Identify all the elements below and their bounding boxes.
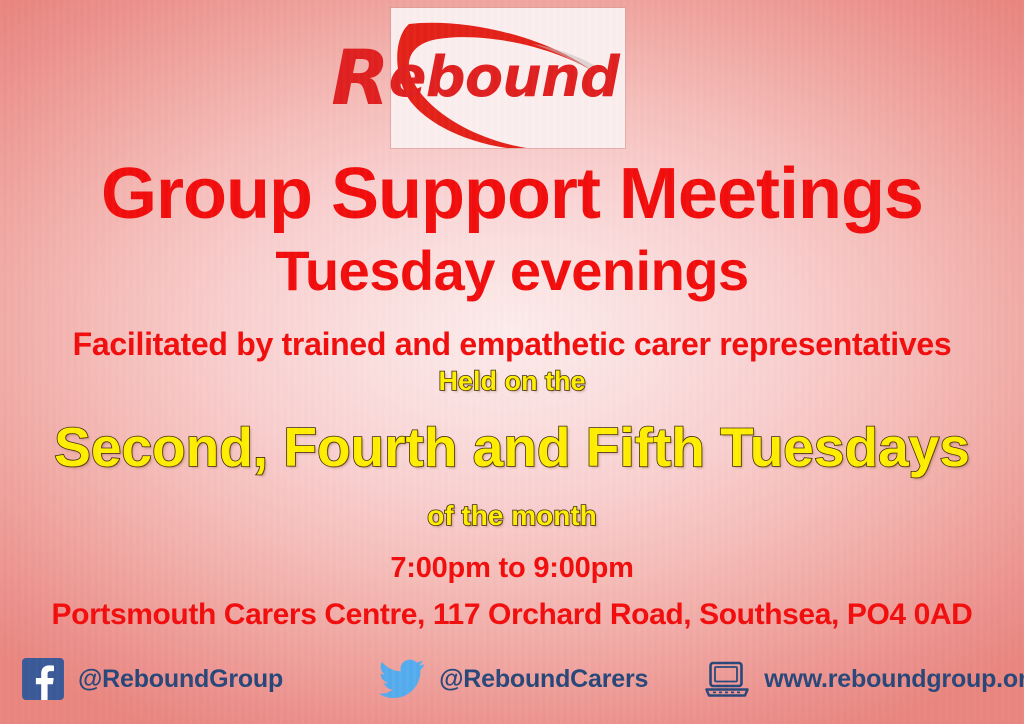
rebound-logo: Rebound — [391, 8, 625, 148]
venue-address: Portsmouth Carers Centre, 117 Orchard Ro… — [0, 600, 1024, 630]
facilitator-note: Facilitated by trained and empathetic ca… — [0, 328, 1024, 360]
meeting-time: 7:00pm to 9:00pm — [0, 554, 1024, 583]
logo-wordmark: Rebound — [391, 8, 625, 148]
of-the-month-label: of the month — [0, 502, 1024, 530]
poster-canvas: Rebound Group Support Meetings Tuesday e… — [0, 0, 1024, 724]
logo-initial: R — [331, 40, 389, 116]
headline-primary: Group Support Meetings — [0, 158, 1024, 230]
twitter-contact[interactable]: @ReboundCarers — [379, 659, 648, 699]
logo-rest: ebound — [389, 50, 619, 106]
twitter-handle[interactable]: @ReboundCarers — [439, 665, 648, 694]
website-url[interactable]: www.reboundgroup.org — [764, 665, 1024, 694]
twitter-icon[interactable] — [379, 659, 425, 699]
facebook-icon[interactable] — [22, 658, 64, 700]
headline-secondary: Tuesday evenings — [0, 243, 1024, 299]
held-on-label: Held on the — [0, 368, 1024, 395]
website-contact[interactable]: www.reboundgroup.org — [704, 659, 1024, 699]
facebook-contact[interactable]: @ReboundGroup — [22, 658, 283, 700]
meeting-days: Second, Fourth and Fifth Tuesdays — [0, 420, 1024, 475]
facebook-handle[interactable]: @ReboundGroup — [78, 665, 283, 694]
laptop-icon[interactable] — [704, 659, 750, 699]
social-footer: @ReboundGroup @ReboundCarers — [0, 648, 1024, 710]
